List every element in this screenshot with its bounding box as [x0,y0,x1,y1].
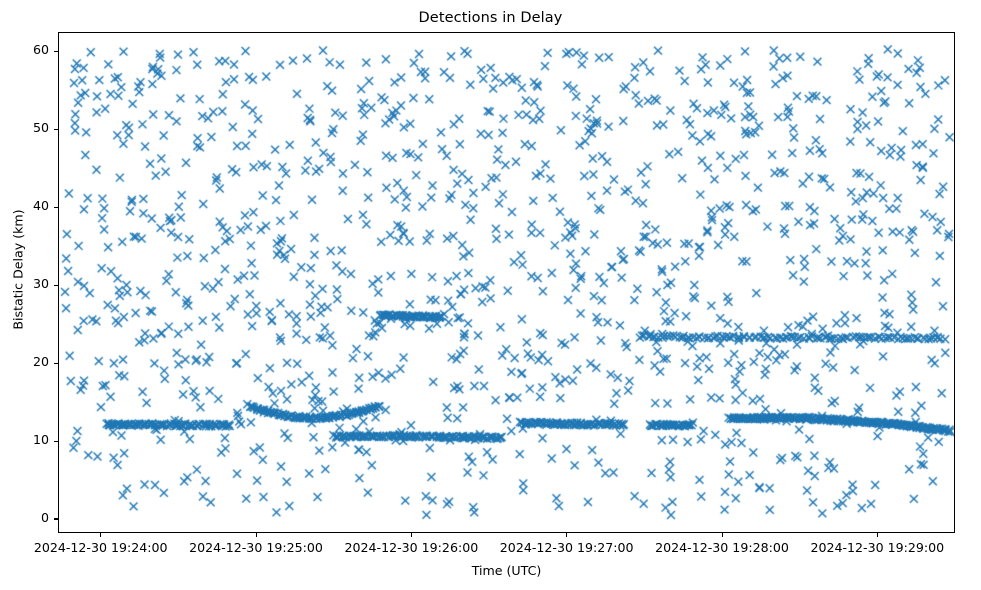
x-tick-mark [100,533,101,537]
x-tick-label: 2024-12-30 19:29:00 [792,540,962,555]
scatter-plot [59,33,954,532]
y-tick-mark [54,207,58,208]
x-tick-mark [256,533,257,537]
x-axis-label: Time (UTC) [58,563,955,578]
y-tick-mark [54,129,58,130]
x-tick-label: 2024-12-30 19:24:00 [16,540,186,555]
page-title: Detections in Delay [0,10,981,26]
plot-area [58,32,955,533]
y-tick-mark [54,363,58,364]
y-tick-mark [54,441,58,442]
x-tick-label: 2024-12-30 19:25:00 [171,540,341,555]
y-tick-label: 60 [9,42,49,57]
x-tick-label: 2024-12-30 19:28:00 [637,540,807,555]
x-tick-label: 2024-12-30 19:26:00 [326,540,496,555]
x-tick-label: 2024-12-30 19:27:00 [482,540,652,555]
y-tick-label: 0 [9,510,49,525]
y-tick-label: 10 [9,432,49,447]
y-axis-label: Bistatic Delay (km) [11,170,26,370]
y-tick-mark [54,51,58,52]
y-tick-mark [54,518,58,519]
x-tick-mark [877,533,878,537]
x-tick-mark [411,533,412,537]
figure-canvas: Detections in Delay 0102030405060 2024-1… [0,0,981,590]
y-tick-mark [54,285,58,286]
x-tick-mark [566,533,567,537]
y-tick-label: 50 [9,120,49,135]
x-tick-mark [722,533,723,537]
